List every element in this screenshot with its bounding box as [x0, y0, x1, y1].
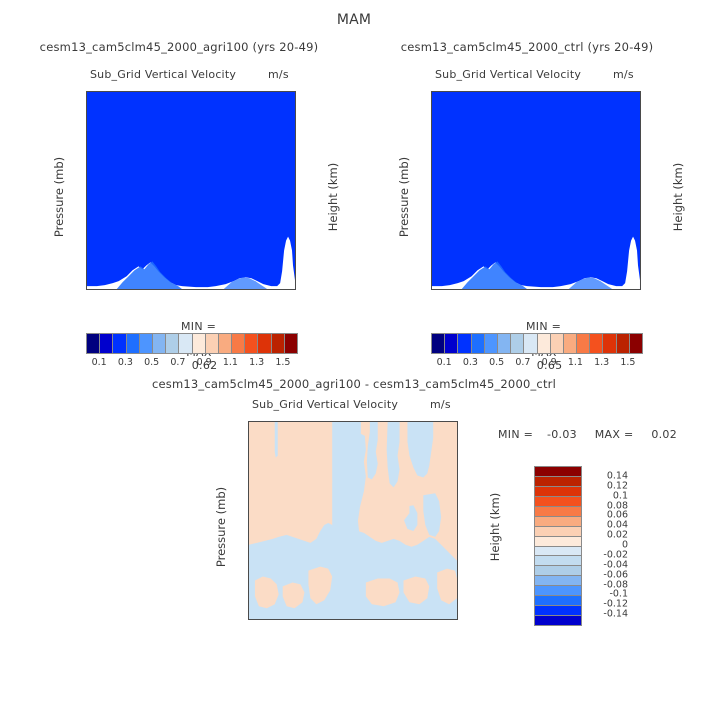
panel-title-ctrl: cesm13_cam5clm45_2000_ctrl (yrs 20-49): [362, 40, 692, 54]
colorbar-cell: [192, 334, 205, 353]
yaxis-title-right-ctrl: Height (km): [671, 132, 685, 262]
colorbar-cell: [535, 536, 581, 546]
yaxis-title-ctrl: Pressure (mb): [397, 132, 411, 262]
colorbar-cell: [563, 334, 576, 353]
colorbar-labels-difference: 0.140.120.10.080.060.040.020-0.02-0.04-0…: [584, 466, 644, 624]
colorbar-cell: [471, 334, 484, 353]
plot-area-ctrl[interactable]: 100 150 200 250 300 400 500 700 850 16 1…: [431, 91, 641, 290]
colorbar-cell: [535, 585, 581, 595]
colorbar-cell: [535, 506, 581, 516]
colorbar-cell: [535, 605, 581, 615]
colorbar-labels-ctrl: 0.10.30.50.70.91.11.31.5: [431, 357, 641, 371]
panel-title-difference: cesm13_cam5clm45_2000_agri100 - cesm13_c…: [104, 377, 604, 391]
colorbar-tick-label: 1.1: [223, 357, 238, 368]
yaxis-title-right-agri100: Height (km): [326, 132, 340, 262]
colorbar-cell: [576, 334, 589, 353]
colorbar-cell: [602, 334, 615, 353]
panel-variable-agri100: Sub_Grid Vertical Velocity: [90, 68, 236, 81]
plot-area-difference[interactable]: 100 150 200 250 300 400 500 700 850 16 1…: [248, 421, 458, 620]
colorbar-tick-label: 1.3: [594, 357, 609, 368]
colorbar-tick-label: 1.5: [275, 357, 290, 368]
colorbar-cell: [589, 334, 602, 353]
colorbar-cell: [523, 334, 536, 353]
colorbar-cell: [139, 334, 152, 353]
panel-units-agri100: m/s: [268, 68, 289, 81]
colorbar-tick-label: 0.3: [463, 357, 478, 368]
yaxis-title-agri100: Pressure (mb): [52, 132, 66, 262]
colorbar-cell: [550, 334, 563, 353]
colorbar-cell: [444, 334, 457, 353]
colorbar-cell: [271, 334, 284, 353]
colorbar-cell: [205, 334, 218, 353]
panel-units-ctrl: m/s: [613, 68, 634, 81]
colorbar-cell: [165, 334, 178, 353]
colorbar-cell: [87, 334, 99, 353]
panel-title-agri100: cesm13_cam5clm45_2000_agri100 (yrs 20-49…: [14, 40, 344, 54]
colorbar-cell: [284, 334, 297, 353]
colorbar-cell: [535, 575, 581, 585]
positive-anomaly-regions: [249, 422, 457, 619]
colorbar-cell: [535, 496, 581, 506]
colorbar-tick-label: -0.14: [584, 609, 628, 620]
colorbar-cell: [535, 555, 581, 565]
panel-variable-difference: Sub_Grid Vertical Velocity: [252, 398, 398, 411]
colorbar-difference[interactable]: [534, 466, 582, 626]
colorbar-cell: [535, 546, 581, 556]
colorbar-cell: [484, 334, 497, 353]
colorbar-cell: [152, 334, 165, 353]
colorbar-agri100[interactable]: [86, 333, 298, 354]
colorbar-cell: [616, 334, 629, 353]
colorbar-cell: [432, 334, 444, 353]
colorbar-cell: [112, 334, 125, 353]
colorbar-tick-label: 1.1: [568, 357, 583, 368]
colorbar-cell: [218, 334, 231, 353]
max-value: 0.02: [651, 428, 677, 441]
colorbar-cell: [535, 467, 581, 476]
colorbar-tick-label: 0.5: [489, 357, 504, 368]
yaxis-title-difference: Pressure (mb): [214, 462, 228, 592]
min-label: MIN =: [526, 320, 561, 333]
colorbar-tick-label: 0.7: [170, 357, 185, 368]
colorbar-tick-label: 0.1: [437, 357, 452, 368]
colorbar-cell: [629, 334, 642, 353]
colorbar-cell: [535, 526, 581, 536]
figure-canvas: MAM cesm13_cam5clm45_2000_agri100 (yrs 2…: [0, 0, 708, 708]
colorbar-cell: [126, 334, 139, 353]
colorbar-cell: [497, 334, 510, 353]
colorbar-tick-label: 1.5: [620, 357, 635, 368]
colorbar-tick-label: 0.1: [92, 357, 107, 368]
season-title: MAM: [0, 12, 708, 28]
colorbar-tick-label: 0.5: [144, 357, 159, 368]
minmax-row-difference: MIN = -0.03 MAX = 0.02: [498, 428, 677, 441]
min-value: -0.03: [547, 428, 577, 441]
yaxis-title-right-difference: Height (km): [488, 462, 502, 592]
colorbar-tick-label: 0.7: [515, 357, 530, 368]
colorbar-tick-label: 1.3: [249, 357, 264, 368]
colorbar-cell: [178, 334, 191, 353]
colorbar-tick-label: 0.9: [197, 357, 212, 368]
colorbar-cell: [99, 334, 112, 353]
colorbar-cell: [537, 334, 550, 353]
colorbar-cell: [535, 486, 581, 496]
panel-units-difference: m/s: [430, 398, 451, 411]
panel-variable-ctrl: Sub_Grid Vertical Velocity: [435, 68, 581, 81]
colorbar-labels-agri100: 0.10.30.50.70.91.11.31.5: [86, 357, 296, 371]
colorbar-cell: [535, 565, 581, 575]
min-label: MIN =: [181, 320, 216, 333]
max-label: MAX =: [595, 428, 634, 441]
plot-area-agri100[interactable]: 100 150 200 250 300 400 500 700 850 16 1…: [86, 91, 296, 290]
colorbar-cell: [244, 334, 257, 353]
colorbar-tick-label: 0.3: [118, 357, 133, 368]
colorbar-cell: [535, 516, 581, 526]
colorbar-cell: [231, 334, 244, 353]
colorbar-cell: [257, 334, 270, 353]
terrain-shading-agri100: [87, 92, 295, 289]
colorbar-cell: [457, 334, 470, 353]
terrain-shading-ctrl: [432, 92, 640, 289]
colorbar-cell: [535, 595, 581, 605]
colorbar-tick-label: 0.9: [542, 357, 557, 368]
colorbar-ctrl[interactable]: [431, 333, 643, 354]
colorbar-cell: [510, 334, 523, 353]
colorbar-cell: [535, 615, 581, 625]
colorbar-cell: [535, 476, 581, 486]
min-label: MIN =: [498, 428, 533, 441]
